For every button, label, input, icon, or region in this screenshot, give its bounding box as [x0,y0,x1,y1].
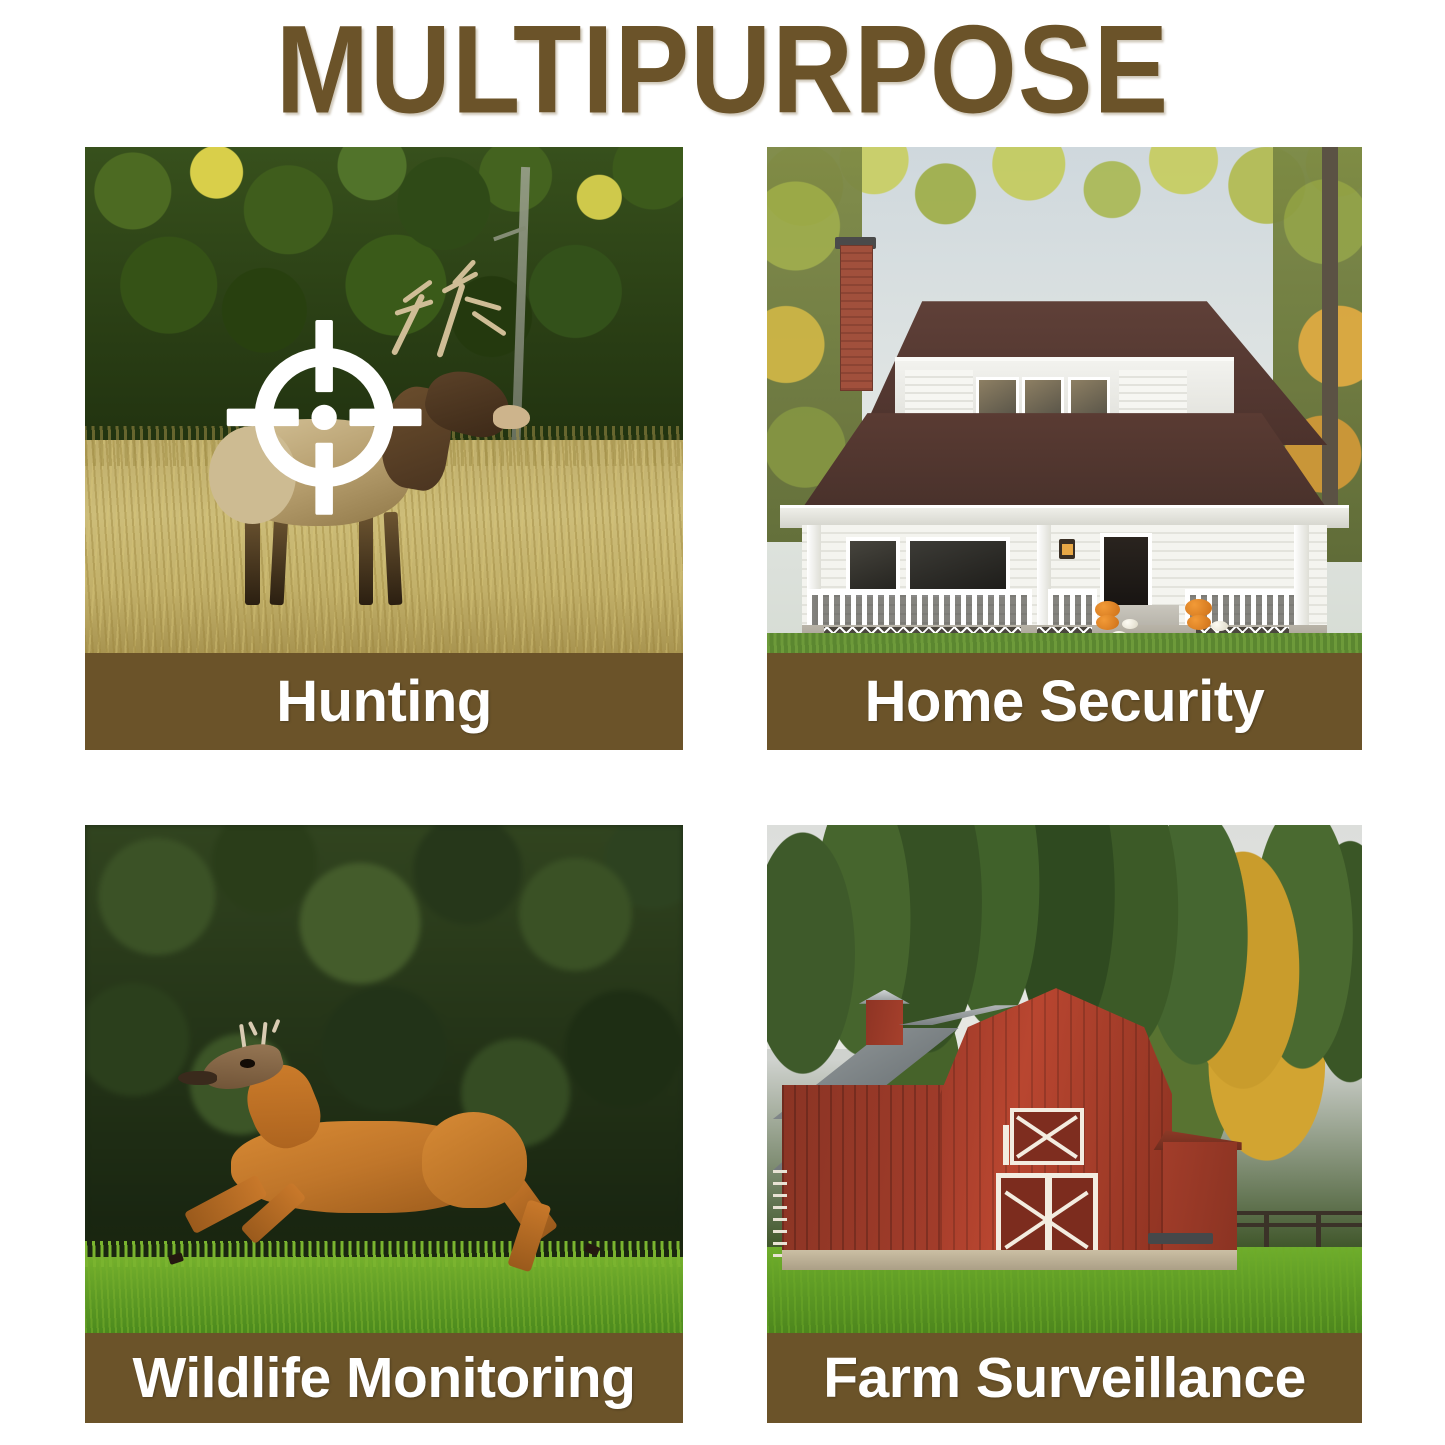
home-security-photo [767,147,1362,653]
elk-rump [209,426,296,524]
white-pumpkin [1211,621,1227,631]
red-barn [773,982,1237,1266]
panel-label-hunting: Hunting [85,653,683,750]
brick-chimney [840,245,873,391]
red-barn-scene [767,825,1362,1333]
deer-eye [240,1059,254,1067]
panel-label-text: Hunting [276,673,492,731]
hunting-photo [85,147,683,653]
panel-label-home-security: Home Security [767,653,1362,750]
panel-home-security[interactable]: Home Security [767,147,1362,750]
panel-label-wildlife-monitoring: Wildlife Monitoring [85,1333,683,1423]
porch-window [846,537,901,597]
barn-cupola [866,1000,903,1046]
deer-hoof [584,1242,601,1256]
panel-farm-surveillance[interactable]: Farm Surveillance [767,825,1362,1423]
elk-antlers [386,270,520,386]
panel-label-text: Wildlife Monitoring [133,1350,636,1407]
roe-deer [145,1043,623,1272]
elk-muzzle [493,405,530,428]
deer-hoof [168,1252,184,1265]
barn-foundation [782,1250,1237,1270]
farm-photo [767,825,1362,1333]
wildlife-photo [85,825,683,1333]
lean-to-wall [1163,1142,1237,1267]
hayloft-door-split [1003,1125,1009,1165]
leaping-deer-scene [85,825,683,1333]
elk-meadow-scene [85,147,683,653]
panel-label-text: Farm Surveillance [823,1350,1306,1407]
porch-lamp [1059,539,1075,559]
bench [1148,1233,1213,1244]
bull-elk [199,349,534,582]
front-lawn [767,633,1362,653]
barn-hayloft-door [1010,1108,1084,1165]
bungalow-house [791,253,1338,653]
porch-column [1294,525,1308,629]
porch-window [906,537,1010,597]
panel-label-text: Home Security [865,673,1265,731]
panel-label-farm-surveillance: Farm Surveillance [767,1333,1362,1423]
elk-leg [245,512,259,605]
deer-rump [422,1112,527,1208]
house-scene [767,147,1362,653]
barn-side-boards [782,1085,949,1267]
panel-hunting[interactable]: Hunting [85,147,683,750]
feature-grid: Hunting [0,0,1445,1445]
barn-ladder [773,1170,787,1261]
panel-wildlife-monitoring[interactable]: Wildlife Monitoring [85,825,683,1423]
elk-leg [359,512,373,605]
deer-muzzle [178,1071,216,1085]
